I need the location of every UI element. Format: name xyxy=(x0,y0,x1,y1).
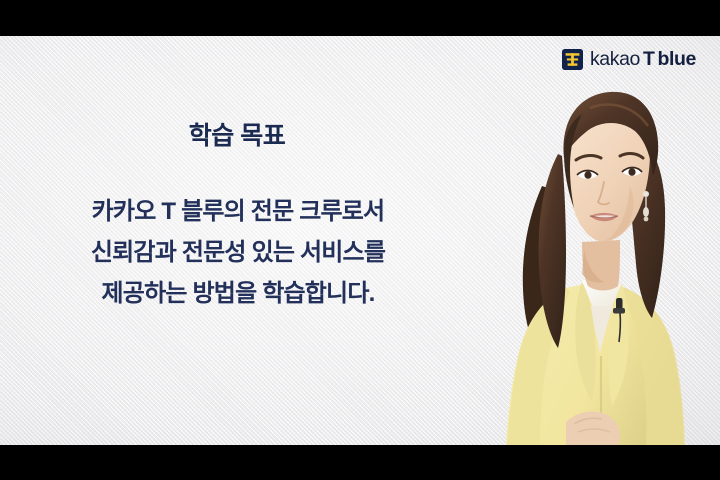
body-line-2: 신뢰감과 전문성 있는 서비스를 xyxy=(28,232,448,273)
page-title: 학습 목표 xyxy=(107,121,367,151)
letterbox-bottom-bar xyxy=(0,445,720,480)
slide-body-text: 카카오 T 블루의 전문 크루로서 신뢰감과 전문성 있는 서비스를 제공하는 … xyxy=(28,191,448,314)
presenter-figure xyxy=(470,36,720,445)
slide-canvas: kakaoTblue 학습 목표 카카오 T 블루의 전문 크루로서 신뢰감과 … xyxy=(0,36,720,445)
video-slide-frame: kakaoTblue 학습 목표 카카오 T 블루의 전문 크루로서 신뢰감과 … xyxy=(0,0,720,480)
body-line-3: 제공하는 방법을 학습합니다. xyxy=(28,273,448,314)
body-line-1: 카카오 T 블루의 전문 크루로서 xyxy=(28,191,448,232)
letterbox-top-bar xyxy=(0,0,720,36)
